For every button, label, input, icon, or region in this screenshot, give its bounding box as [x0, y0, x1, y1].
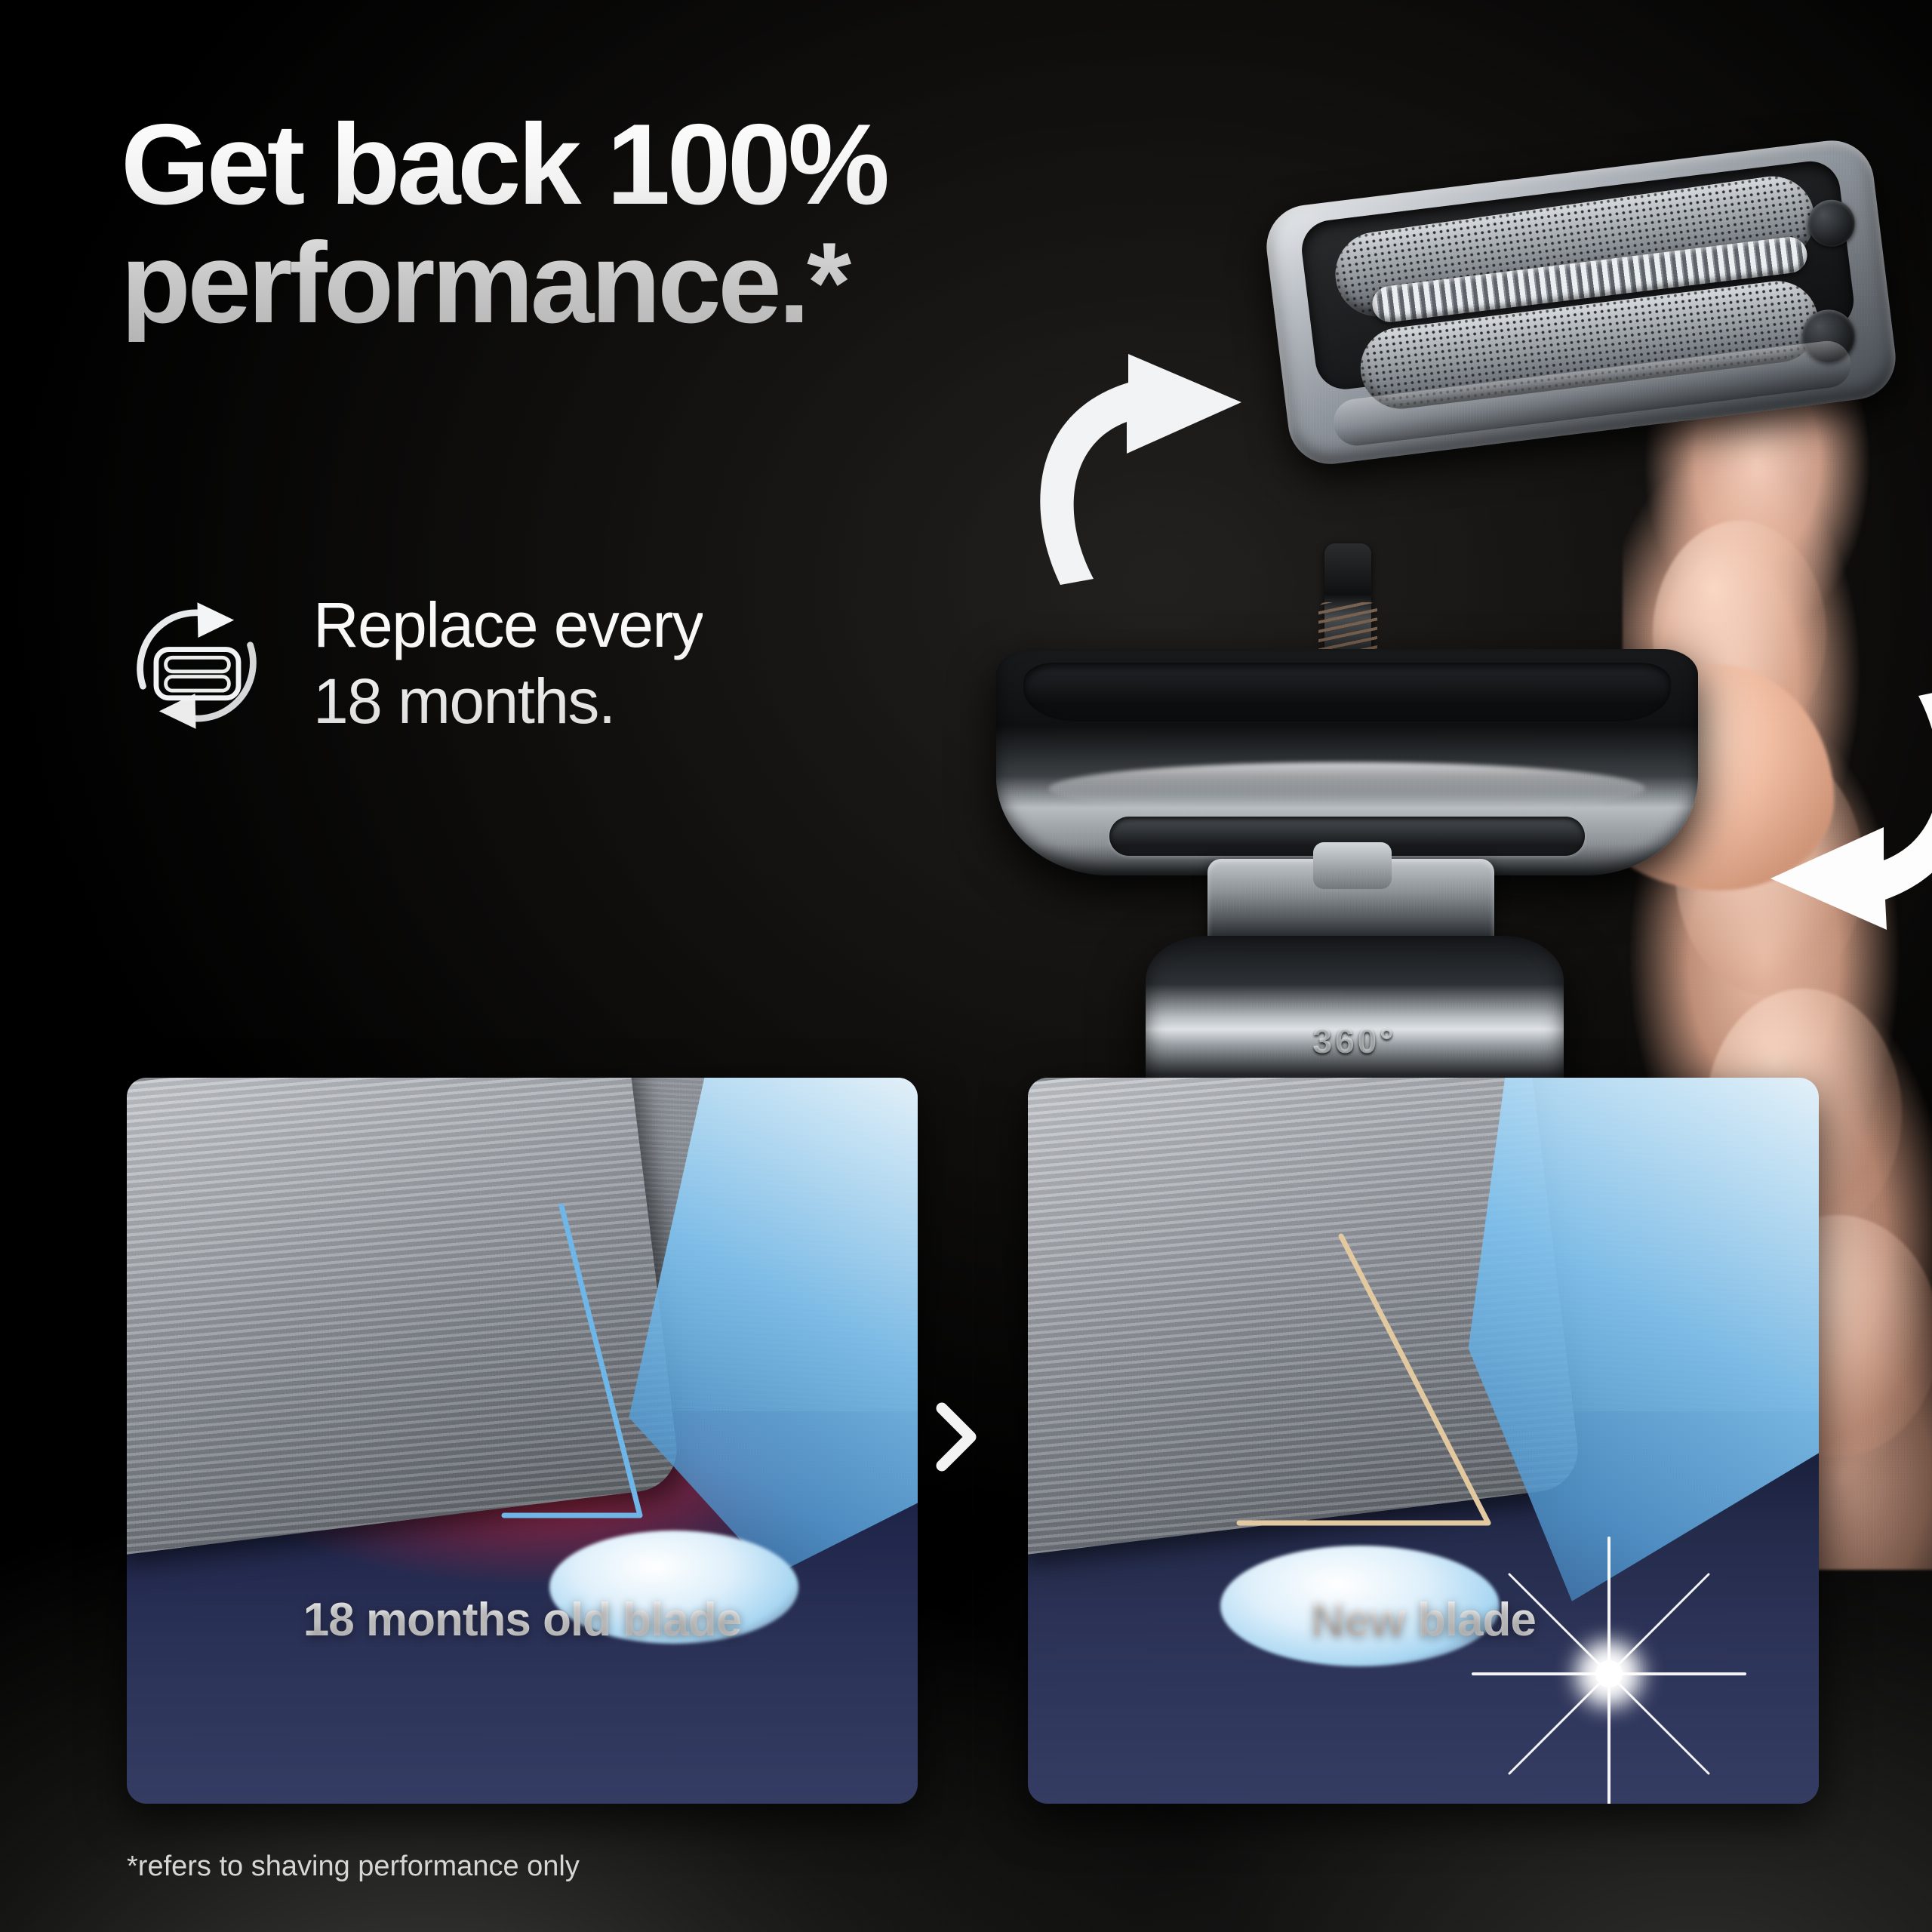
- chevron-right-icon: [933, 1401, 980, 1473]
- headline-line-2: performance.*: [121, 224, 1064, 343]
- comparison-panel-old-blade: 18 months old blade: [127, 1078, 918, 1804]
- dull-edge-outline: [414, 1191, 746, 1583]
- page-title: Get back 100% performance.*: [121, 106, 1064, 342]
- advertisement-canvas: 360° Get back 100% performance.*: [0, 0, 1932, 1932]
- headline-line-1: Get back 100%: [121, 106, 1064, 224]
- panel-caption-new: New blade: [1028, 1593, 1819, 1647]
- footnote-disclaimer: *refers to shaving performance only: [127, 1850, 580, 1883]
- replace-interval-callout: Replace every 18 months.: [127, 587, 703, 740]
- replace-line-2: 18 months.: [313, 663, 703, 740]
- panel-caption-old: 18 months old blade: [127, 1593, 918, 1647]
- comparison-panel-new-blade: New blade: [1028, 1078, 1819, 1804]
- replace-cycle-cassette-icon: [127, 592, 266, 740]
- replace-interval-text: Replace every 18 months.: [313, 587, 703, 740]
- replace-line-1: Replace every: [313, 587, 703, 663]
